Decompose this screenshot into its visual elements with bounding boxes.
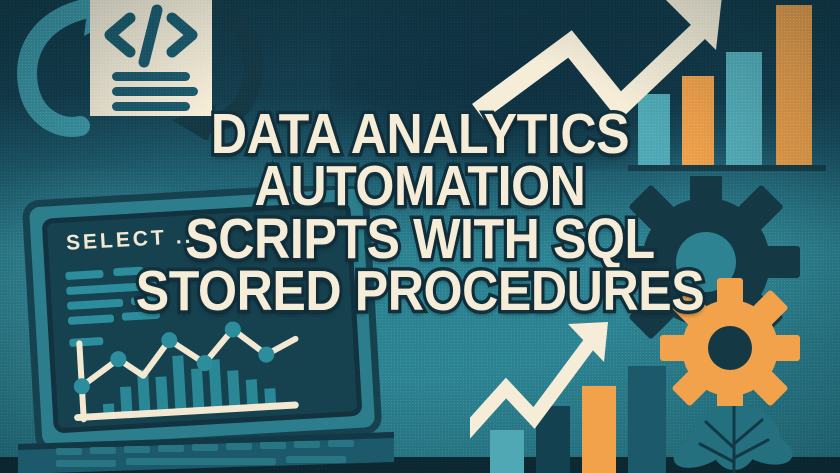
bottom-bar-4 <box>628 366 666 473</box>
bottom-growth-chart <box>470 318 730 473</box>
bottom-bar-1 <box>490 430 524 473</box>
laptop-screen-content <box>16 186 396 473</box>
bottom-bar-3 <box>582 386 616 473</box>
laptop-code-lines <box>65 266 163 347</box>
bottom-bar-series <box>490 366 666 473</box>
thumbnail-canvas: SELECT ... <box>0 0 840 473</box>
